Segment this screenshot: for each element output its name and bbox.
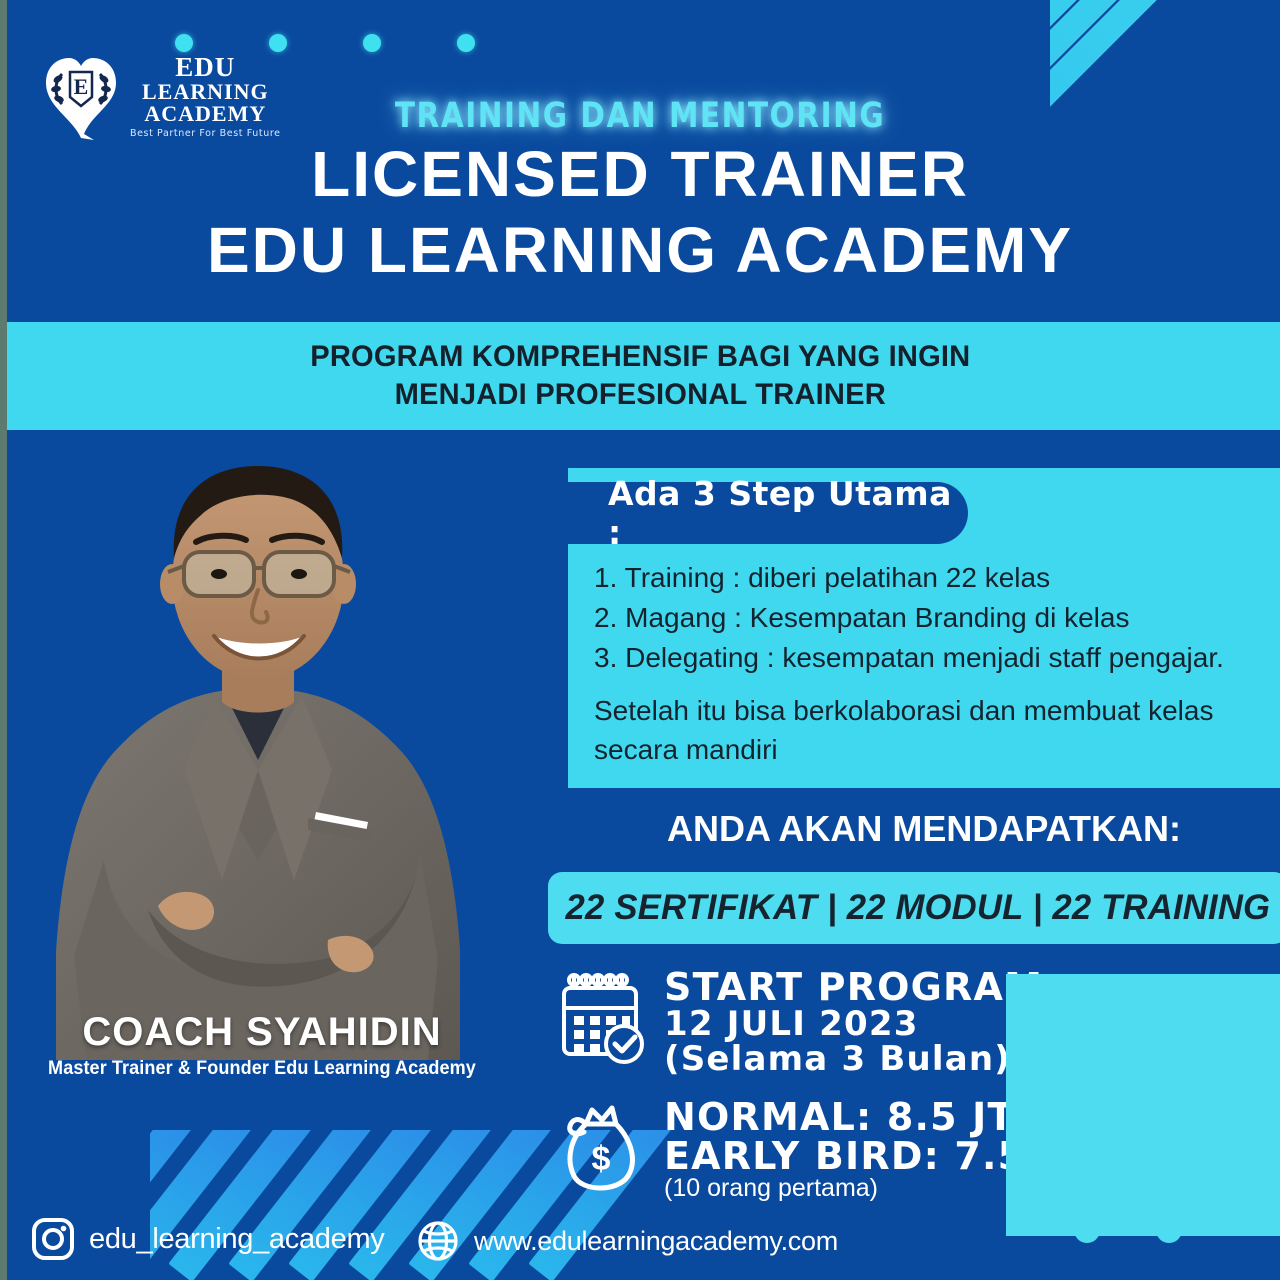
poster-root: E EDU LEARNING ACADEMY Best Partner For … bbox=[0, 0, 1280, 1280]
footer-instagram-handle: edu_learning_academy bbox=[89, 1223, 385, 1256]
footer-instagram[interactable]: edu_learning_academy bbox=[30, 1216, 385, 1262]
logo-line-1: EDU bbox=[175, 54, 235, 81]
list-item: 3. Delegating : kesempatan menjadi staff… bbox=[594, 638, 1280, 678]
instagram-icon bbox=[30, 1216, 76, 1262]
subtitle-line-2: MENJADI PROFESIONAL TRAINER bbox=[394, 378, 885, 412]
logo-monogram: E bbox=[74, 74, 89, 99]
benefits-highlight-box: 22 SERTIFIKAT | 22 MODUL | 22 TRAINING bbox=[548, 872, 1280, 944]
dollar-glyph: $ bbox=[592, 1140, 611, 1178]
logo-line-3: ACADEMY bbox=[144, 103, 266, 125]
footer: edu_learning_academy www.edulearningacad… bbox=[0, 1188, 1280, 1280]
dot-2 bbox=[269, 34, 287, 52]
schedule-duration: (Selama 3 Bulan) bbox=[664, 1042, 1043, 1077]
page-title-line-2: EDU LEARNING ACADEMY bbox=[0, 218, 1280, 282]
pricing-row: $ NORMAL: 8.5 JT EARLY BIRD: 7.5 JT (10 … bbox=[556, 1098, 1082, 1202]
speaker-name: COACH SYAHIDIN bbox=[12, 1010, 512, 1055]
schedule-date: 12 JULI 2023 bbox=[664, 1007, 1043, 1042]
dot-4 bbox=[457, 34, 475, 52]
globe-icon bbox=[415, 1218, 461, 1264]
logo-tagline: Best Partner For Best Future bbox=[130, 129, 281, 139]
speaker-role: Master Trainer & Founder Edu Learning Ac… bbox=[25, 1058, 500, 1080]
heart-laurel-logo-icon: E bbox=[42, 52, 120, 140]
footer-website-url: www.edulearningacademy.com bbox=[474, 1226, 838, 1257]
schedule-label: START PROGRAM bbox=[664, 968, 1043, 1007]
subtitle-line-1: PROGRAM KOMPREHENSIF BAGI YANG INGIN bbox=[310, 340, 970, 374]
list-item: 2. Magang : Kesempatan Branding di kelas bbox=[594, 598, 1280, 638]
list-item: 1. Training : diberi pelatihan 22 kelas bbox=[594, 558, 1280, 598]
benefits-highlight-text: 22 SERTIFIKAT | 22 MODUL | 22 TRAINING bbox=[566, 888, 1271, 928]
money-bag-icon: $ bbox=[556, 1098, 648, 1198]
brand-logo: E EDU LEARNING ACADEMY Best Partner For … bbox=[42, 52, 281, 140]
steps-heading-label: Ada 3 Step Utama : bbox=[608, 474, 968, 552]
steps-list: 1. Training : diberi pelatihan 22 kelas … bbox=[594, 558, 1280, 677]
steps-heading-pill: Ada 3 Step Utama : bbox=[568, 482, 968, 544]
calendar-check-icon bbox=[556, 968, 648, 1068]
benefits-title: ANDA AKAN MENDAPATKAN: bbox=[568, 808, 1280, 850]
subtitle-band: PROGRAM KOMPREHENSIF BAGI YANG INGIN MEN… bbox=[0, 322, 1280, 430]
steps-note: Setelah itu bisa berkolaborasi dan membu… bbox=[594, 692, 1234, 769]
speaker-photo bbox=[8, 440, 508, 1060]
brand-logo-wordmark: EDU LEARNING ACADEMY Best Partner For Be… bbox=[130, 54, 281, 139]
left-edge-strip bbox=[0, 0, 7, 1280]
dot-1 bbox=[175, 34, 193, 52]
footer-website[interactable]: www.edulearningacademy.com bbox=[415, 1218, 838, 1264]
decorative-dots-row bbox=[175, 34, 475, 52]
page-title-line-1: LICENSED TRAINER bbox=[0, 142, 1280, 206]
schedule-row: START PROGRAM 12 JULI 2023 (Selama 3 Bul… bbox=[556, 968, 1043, 1077]
dot-3 bbox=[363, 34, 381, 52]
logo-line-2: LEARNING bbox=[142, 81, 269, 103]
